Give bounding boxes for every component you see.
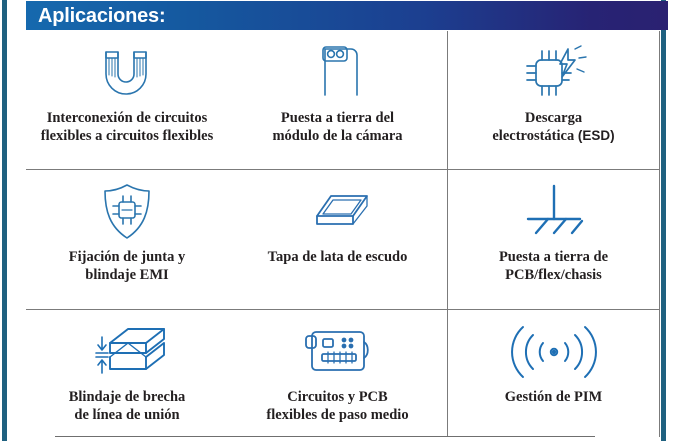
right-accent-rail — [661, 0, 666, 441]
cell-label: Fijación de junta yblindaje EMI — [63, 248, 191, 285]
cell-label: Blindaje de brechade línea de unión — [63, 388, 192, 425]
grid-cell-shield-can-lid[interactable]: Tapa de lata de escudo — [228, 170, 448, 310]
camera-module-icon — [307, 41, 369, 105]
cell-label: Tapa de lata de escudo — [262, 248, 414, 266]
grid-cell-pcb-flex-chassis-grounding[interactable]: Puesta a tierra dePCB/flex/chasis — [448, 170, 660, 310]
grid-cell-gasket-emi-shielding[interactable]: Fijación de junta yblindaje EMI — [26, 170, 228, 310]
cell-label: Puesta a tierra dePCB/flex/chasis — [493, 248, 614, 285]
cell-label: Puesta a tierra delmódulo de la cámara — [266, 109, 408, 146]
shield-chip-icon — [98, 180, 156, 244]
electrical-ground-icon — [514, 180, 594, 244]
shield-can-lid-icon — [297, 180, 379, 244]
pcb-board-icon — [300, 320, 376, 384]
left-accent-rail — [2, 0, 7, 441]
stacked-gap-box-icon — [82, 320, 172, 384]
applications-infographic: Aplicaciones: — [0, 0, 675, 441]
flex-cable-u-icon — [94, 41, 160, 105]
cell-label: Descargaelectrostática (ESD) — [486, 109, 620, 146]
cell-label: Interconexión de circuitosflexibles a ci… — [35, 109, 220, 146]
wireless-waves-icon — [511, 320, 597, 384]
applications-grid: Interconexión de circuitosflexibles a ci… — [26, 31, 660, 437]
header-bar: Aplicaciones: — [26, 1, 668, 30]
grid-cell-camera-module-grounding[interactable]: Puesta a tierra delmódulo de la cámara — [228, 31, 448, 170]
cell-label: Circuitos y PCBflexibles de paso medio — [260, 388, 414, 425]
grid-cell-flex-to-flex[interactable]: Interconexión de circuitosflexibles a ci… — [26, 31, 228, 170]
bottom-rule — [55, 436, 595, 437]
grid-cell-esd[interactable]: Descargaelectrostática (ESD) — [448, 31, 660, 170]
grid-cell-pim-management[interactable]: Gestión de PIM — [448, 310, 660, 437]
grid-cell-board-line-gap-shielding[interactable]: Blindaje de brechade línea de unión — [26, 310, 228, 437]
page-title: Aplicaciones: — [26, 6, 165, 26]
grid-cell-mid-pitch-flex-pcb[interactable]: Circuitos y PCBflexibles de paso medio — [228, 310, 448, 437]
cell-label: Gestión de PIM — [499, 388, 608, 406]
chip-lightning-icon — [519, 41, 589, 105]
